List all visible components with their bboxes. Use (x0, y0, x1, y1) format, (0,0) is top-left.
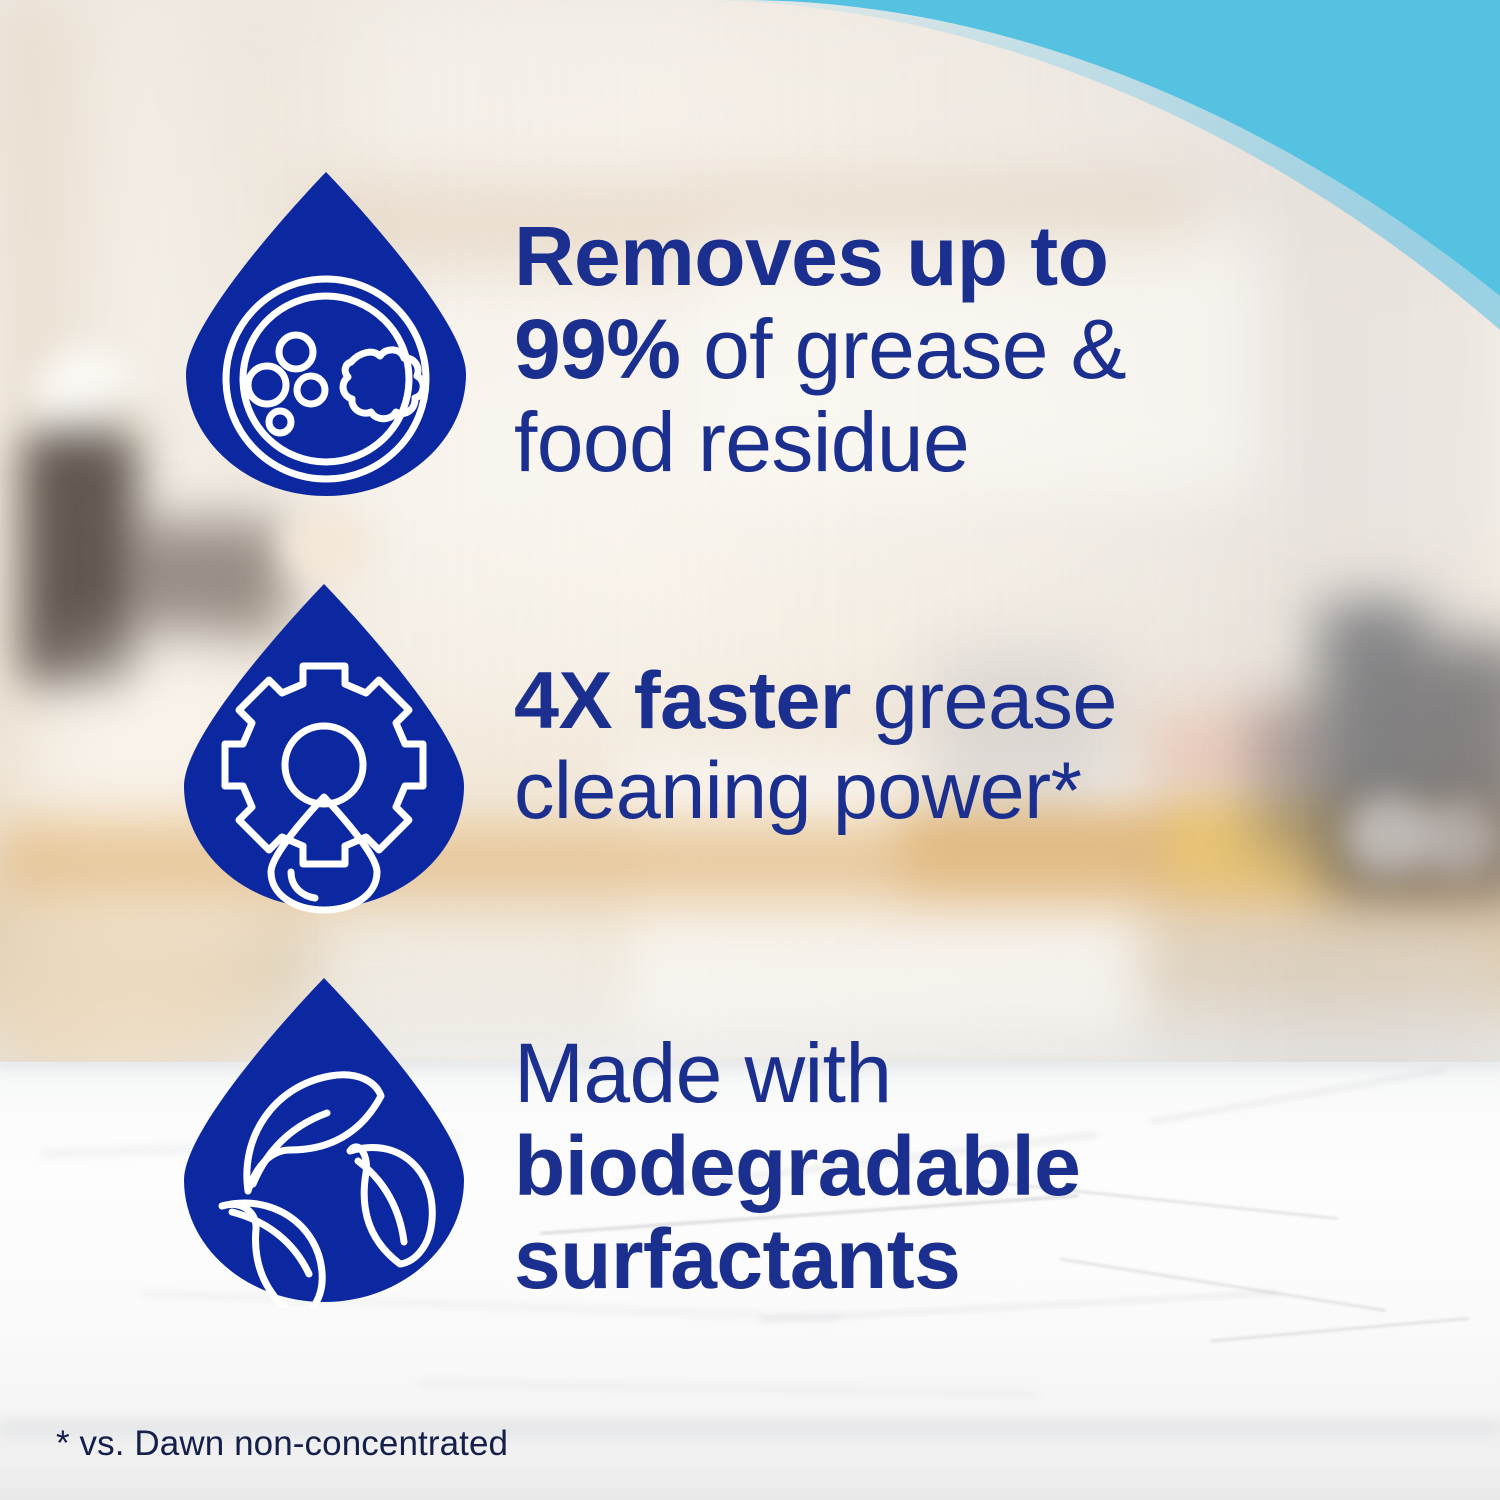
benefit-icon-cleaning-power (178, 578, 470, 914)
background-bokeh-right-2 (1415, 800, 1500, 878)
benefit-text-line: surfactants (514, 1213, 1080, 1306)
benefit-text-line: biodegradable (514, 1120, 1080, 1213)
benefit-text-line: Removes up to (514, 210, 1126, 303)
benefit-text-line: Made with (514, 1027, 1080, 1120)
benefit-text-grease-removal: Removes up to 99% of grease & food resid… (514, 210, 1126, 490)
benefit-icon-biodegradable (178, 972, 470, 1308)
product-benefits-panel: Removes up to 99% of grease & food resid… (0, 0, 1500, 1500)
benefit-text-line: food residue (514, 396, 1126, 489)
benefit-icon-grease-removal (180, 166, 472, 502)
benefit-text-line: 99% of grease & (514, 303, 1126, 396)
benefit-text-line: 4X faster grease (514, 657, 1117, 747)
water-droplet-badge (186, 172, 466, 496)
benefit-text-line: cleaning power* (514, 747, 1117, 837)
benefit-text-biodegradable: Made with biodegradable surfactants (514, 1027, 1080, 1307)
background-bokeh-center (282, 505, 372, 585)
footnote-disclaimer: * vs. Dawn non-concentrated (56, 1424, 508, 1464)
benefit-text-cleaning-power: 4X faster grease cleaning power* (514, 657, 1117, 837)
